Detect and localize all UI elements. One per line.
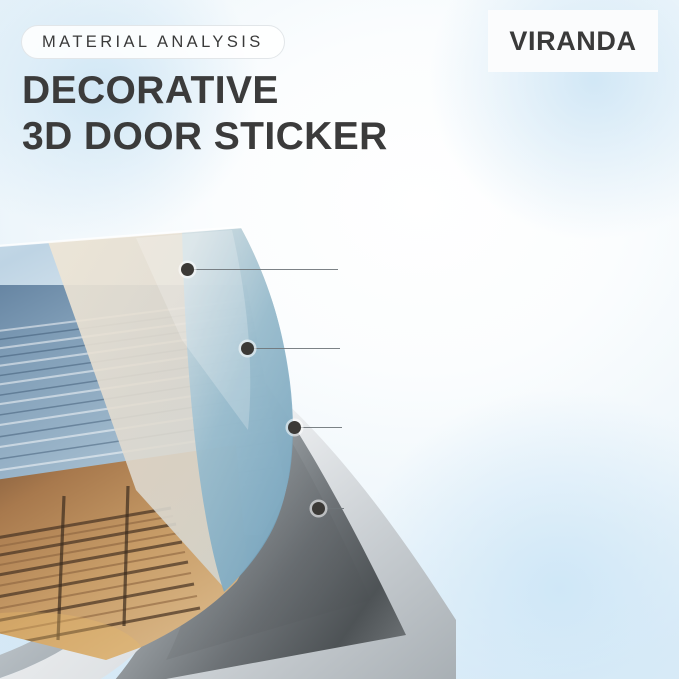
callout-leader-hd-pattern — [253, 348, 340, 349]
callout-leader-waterproof — [193, 269, 338, 270]
eyebrow-badge: MATERIAL ANALYSIS — [21, 25, 285, 59]
callout-leader-backing — [324, 508, 344, 509]
callout-dot-waterproof — [181, 263, 194, 276]
brand-logo-panel: VIRANDA — [488, 10, 658, 72]
page-title: DECORATIVE 3D DOOR STICKER — [22, 68, 542, 160]
title-line-2: 3D DOOR STICKER — [22, 114, 542, 160]
callout-dot-bonding — [288, 421, 301, 434]
callout-leader-bonding — [300, 427, 342, 428]
callout-dot-hd-pattern — [241, 342, 254, 355]
peeling-sticker-artwork — [0, 190, 486, 679]
eyebrow-text: MATERIAL ANALYSIS — [42, 33, 264, 52]
infographic-canvas: MATERIAL ANALYSIS DECORATIVE 3D DOOR STI… — [0, 0, 679, 679]
brand-name: VIRANDA — [509, 26, 636, 57]
title-line-1: DECORATIVE — [22, 69, 279, 112]
callout-dot-backing — [312, 502, 325, 515]
